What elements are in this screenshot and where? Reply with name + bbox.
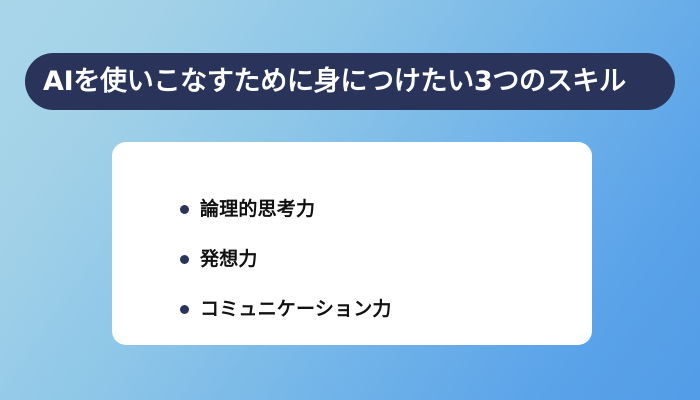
bullet-dot-icon [180, 255, 189, 264]
bullet-dot-icon [180, 205, 189, 214]
list-item-label: 論理的思考力 [200, 200, 315, 219]
content-card: 論理的思考力 発想力 コミュニケーション力 [112, 142, 592, 345]
list-item: 論理的思考力 [180, 184, 392, 234]
title-banner: AIを使いこなすために身につけたい3つのスキル [25, 53, 675, 110]
list-item: 発想力 [180, 234, 392, 284]
list-item-label: コミュニケーション力 [200, 300, 392, 319]
slide-title: AIを使いこなすために身につけたい3つのスキル [43, 68, 626, 95]
list-item: コミュニケーション力 [180, 284, 392, 334]
skill-list: 論理的思考力 発想力 コミュニケーション力 [180, 184, 392, 334]
bullet-dot-icon [180, 305, 189, 314]
list-item-label: 発想力 [200, 250, 258, 269]
slide-canvas: AIを使いこなすために身につけたい3つのスキル 論理的思考力 発想力 コミュニケ… [0, 0, 700, 400]
